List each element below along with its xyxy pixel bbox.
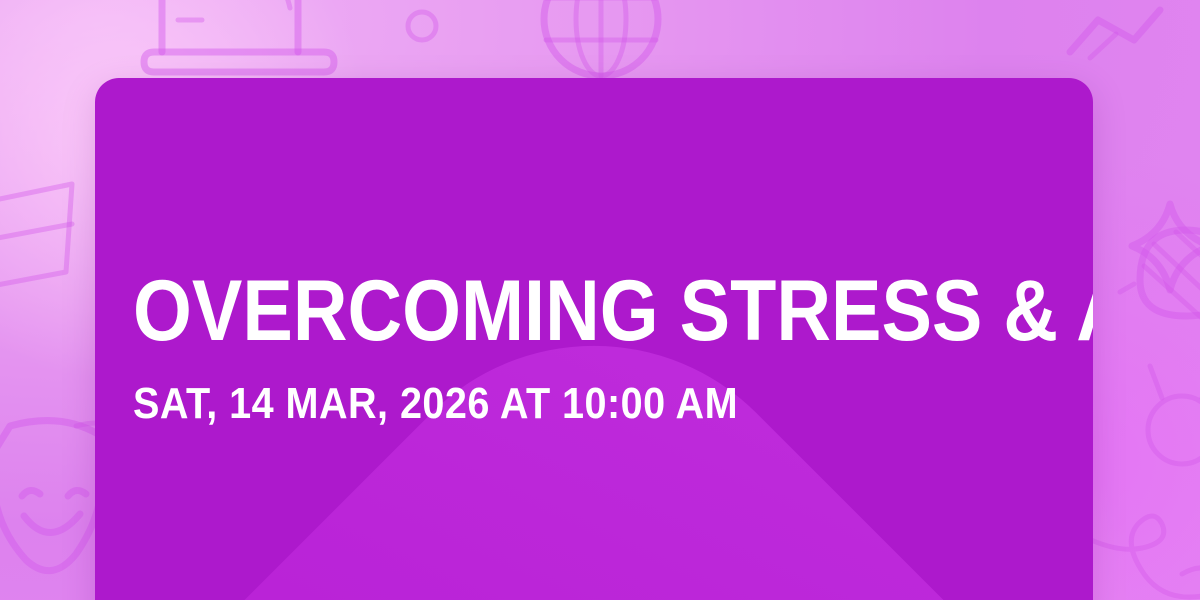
event-title: OVERCOMING STRESS & ANXIETY [133,272,944,351]
card-content: OVERCOMING STRESS & ANXIETY SAT, 14 MAR,… [95,78,1093,600]
event-card: OVERCOMING STRESS & ANXIETY SAT, 14 MAR,… [95,78,1093,600]
event-banner: OVERCOMING STRESS & ANXIETY SAT, 14 MAR,… [0,0,1200,600]
event-date-time: SAT, 14 MAR, 2026 AT 10:00 AM [133,382,963,426]
event-text-block: OVERCOMING STRESS & ANXIETY SAT, 14 MAR,… [133,272,1055,425]
